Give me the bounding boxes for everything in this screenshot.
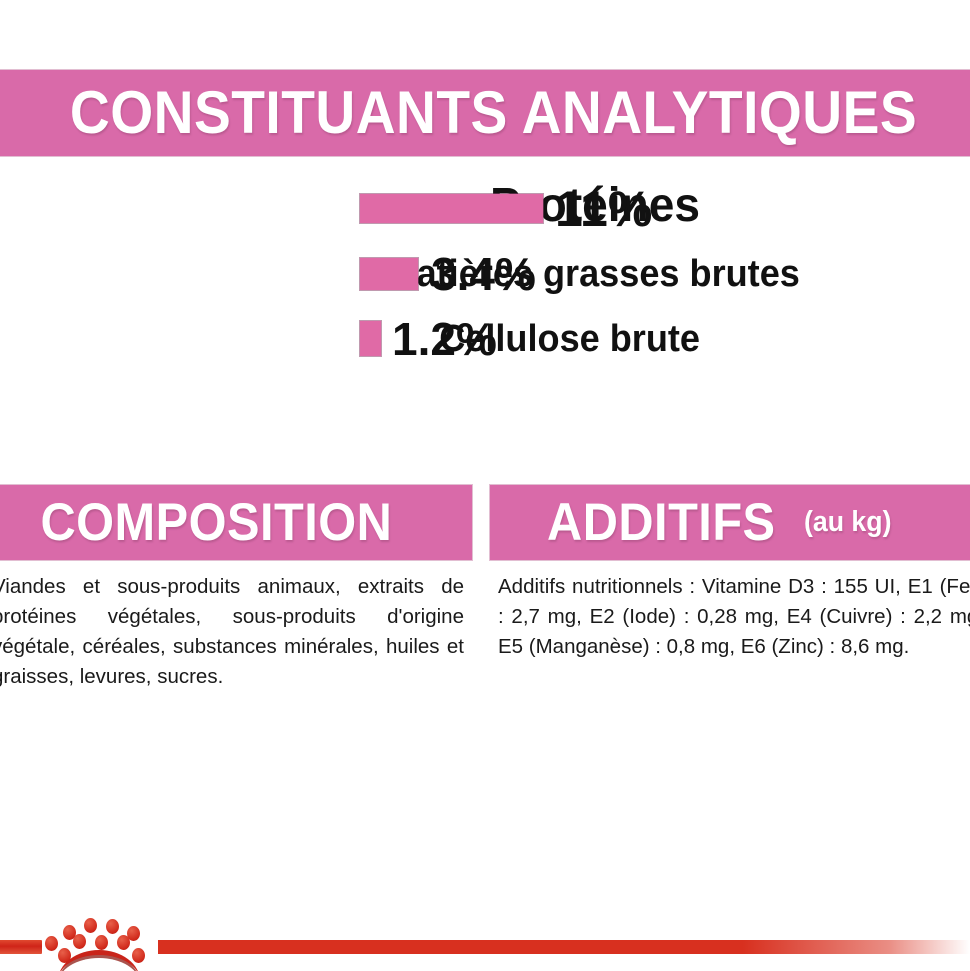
nutrient-bar-matieres-grasses-brutes xyxy=(360,258,418,290)
composition-text-block: Viandes et sous-produits animaux, extrai… xyxy=(0,572,470,692)
crown-dot xyxy=(45,936,58,951)
additives-subtitle: (au kg) xyxy=(804,506,891,539)
analytical-constituents-title: CONSTITUANTS ANALYTIQUES xyxy=(0,83,917,143)
additives-title: ADDITIFS xyxy=(490,496,776,549)
additives-text-block: Additifs nutritionnels : Vitamine D3 : 1… xyxy=(498,572,970,662)
crown-dot xyxy=(95,935,108,950)
crown-dot xyxy=(73,934,86,949)
nutrient-bar-zone-cellulose-brute: 1.2% xyxy=(360,306,497,371)
analytical-constituents-banner: CONSTITUANTS ANALYTIQUES xyxy=(0,70,970,156)
composition-title: COMPOSITION xyxy=(0,496,392,549)
nutrition-label-page: CONSTITUANTS ANALYTIQUES Protéines 11% M… xyxy=(0,0,970,971)
composition-banner: COMPOSITION xyxy=(0,485,472,560)
nutrient-value-proteines: 11% xyxy=(555,184,652,234)
crown-dot xyxy=(132,948,145,963)
composition-paragraph: Viandes et sous-produits animaux, extrai… xyxy=(0,572,464,692)
additives-banner: ADDITIFS (au kg) xyxy=(490,485,970,560)
footer-brand-rule xyxy=(0,912,970,971)
nutrient-bar-zone-proteines: 11% xyxy=(360,176,652,241)
royal-canin-crown-icon xyxy=(46,912,154,971)
nutrient-value-cellulose-brute: 1.2% xyxy=(392,316,497,362)
footer-rule-left xyxy=(0,940,42,954)
nutrient-bar-zone-matieres-grasses-brutes: 3.4% xyxy=(360,241,536,306)
nutrient-row-matieres-grasses-brutes: Matières grasses brutes 3.4% xyxy=(0,241,700,306)
crown-dot xyxy=(117,935,130,950)
nutrient-row-cellulose-brute: Cellulose brute 1.2% xyxy=(0,306,700,371)
additives-paragraph: Additifs nutritionnels : Vitamine D3 : 1… xyxy=(498,572,970,662)
crown-dot xyxy=(106,919,119,934)
nutrient-row-proteines: Protéines 11% xyxy=(0,176,700,241)
analytical-constituents-table: Protéines 11% Matières grasses brutes 3.… xyxy=(0,176,700,371)
footer-rule-right xyxy=(158,940,970,954)
nutrient-value-matieres-grasses-brutes: 3.4% xyxy=(431,251,536,297)
nutrient-bar-cellulose-brute xyxy=(360,321,381,356)
nutrient-bar-proteines xyxy=(360,194,543,223)
crown-dot xyxy=(84,918,97,933)
